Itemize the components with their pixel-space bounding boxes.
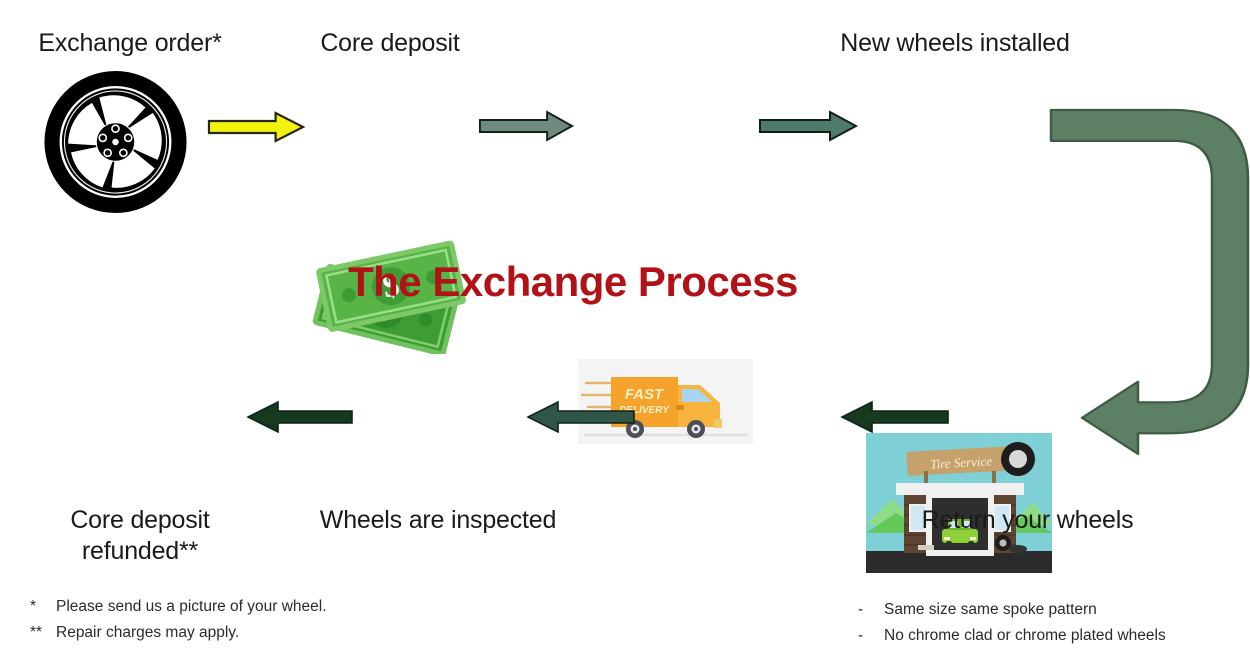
footnote-left-1-text: Please send us a picture of your wheel. — [56, 594, 327, 620]
footnote-right-2-mark: - — [858, 623, 884, 649]
arrow-truck-to-shop — [758, 110, 858, 142]
arrow-deposit-to-truck — [478, 110, 574, 142]
footnote-left-1-mark: * — [30, 594, 56, 620]
footnote-right-2-text: No chrome clad or chrome plated wheels — [884, 623, 1166, 649]
curved-connector-arrow — [1046, 104, 1246, 452]
footnotes-right: - Same size same spoke pattern - No chro… — [858, 597, 1166, 648]
footnote-left-1: * Please send us a picture of your wheel… — [30, 594, 327, 620]
footnotes-left: * Please send us a picture of your wheel… — [30, 594, 327, 645]
label-exchange-order: Exchange order* — [10, 28, 250, 59]
wheel-dark-icon — [38, 68, 193, 216]
label-wheels-are-inspected: Wheels are inspected — [298, 505, 578, 536]
footnote-right-1-mark: - — [858, 597, 884, 623]
arrow-order-to-deposit — [207, 110, 305, 144]
label-core-deposit: Core deposit — [290, 28, 490, 59]
exchange-process-diagram: Exchange order* Core deposit New wheels … — [0, 0, 1250, 666]
label-return-your-wheels: Return your wheels — [895, 505, 1160, 536]
page-title: The Exchange Process — [348, 258, 798, 306]
footnote-right-2: - No chrome clad or chrome plated wheels — [858, 623, 1166, 649]
footnote-left-2-mark: ** — [30, 620, 56, 646]
footnote-right-1: - Same size same spoke pattern — [858, 597, 1166, 623]
footnote-left-2-text: Repair charges may apply. — [56, 620, 239, 646]
arrow-truck-to-inspected — [526, 400, 636, 434]
arrow-return-to-truck — [840, 400, 950, 434]
arrow-inspected-to-refund — [246, 400, 354, 434]
label-core-deposit-refunded: Core deposit refunded** — [35, 505, 245, 566]
tire-service-shop-icon: Tire Service — [866, 433, 1052, 573]
footnote-left-2: ** Repair charges may apply. — [30, 620, 327, 646]
label-new-wheels-installed: New wheels installed — [805, 28, 1105, 59]
footnote-right-1-text: Same size same spoke pattern — [884, 597, 1097, 623]
